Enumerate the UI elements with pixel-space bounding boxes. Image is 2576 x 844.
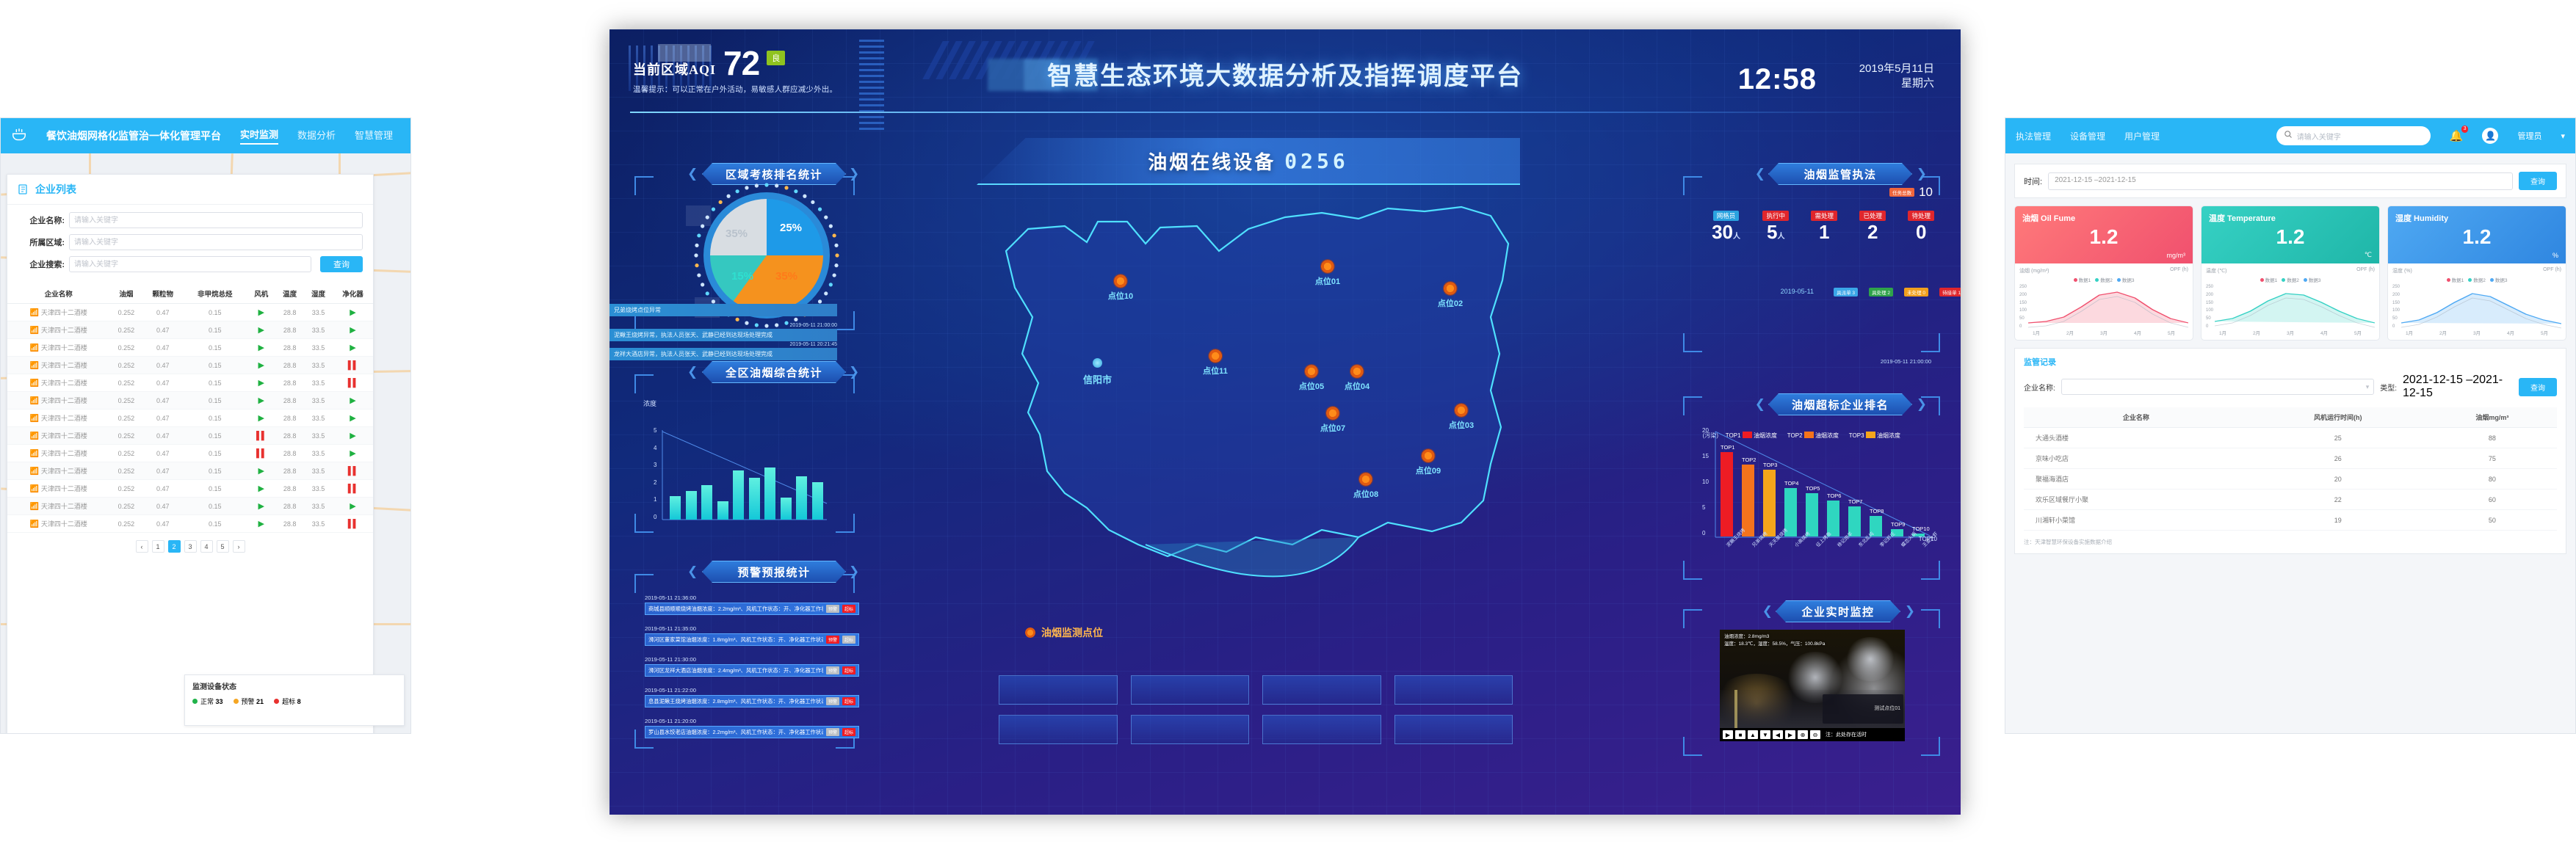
top-bar-group: TOP1 <box>1721 452 1733 537</box>
cell-company: 📶天津四十二酒楼 <box>7 498 109 515</box>
table-row[interactable]: 📶天津四十二酒楼 0.252 0.47 0.15 ▶ 28.8 33.5 ▌▌ <box>7 515 373 533</box>
column-header: 净化器 <box>333 284 373 304</box>
weekday-text: 星期六 <box>1859 76 1934 91</box>
enforce-event-text: 龙祥大酒店异常，执法人员张天、武静已经到达现场处理完成 <box>609 348 837 360</box>
cell-temp: 28.8 <box>275 515 304 533</box>
chevron-right-deco-2: ❯ <box>849 365 859 379</box>
page-button[interactable]: 2 <box>168 540 181 553</box>
left-tab-1[interactable]: 数据分析 <box>297 128 336 144</box>
cell-oil: 80 <box>2428 469 2557 490</box>
y-tick: 3 <box>654 462 656 468</box>
map-point[interactable]: 点位02 <box>1438 281 1463 309</box>
metric-sparkline <box>2401 285 2561 329</box>
cell-company: 📶天津四十二酒楼 <box>7 339 109 357</box>
records-table-header: 企业名称风机运行时间(h)油烟mg/m³ <box>2024 407 2557 428</box>
left-tab-2[interactable]: 智慧管理 <box>355 128 393 144</box>
map-point[interactable]: 点位03 <box>1449 403 1474 431</box>
enforce-stat-label: 执行中 <box>1762 211 1789 221</box>
table-row[interactable]: 📶天津四十二酒楼 0.252 0.47 0.15 ▶ 28.8 33.5 ▶ <box>7 498 373 515</box>
enforce-event[interactable]: 2019-05-11 20:21:45 龙祥大酒店异常，执法人员张天、武静已经到… <box>609 342 837 360</box>
top-bar-label: TOP9 <box>1891 521 1905 528</box>
records-row[interactable]: 欢乐区域餐厅小聚 22 60 <box>2024 490 2557 510</box>
x-tick: 2月 <box>2066 329 2074 336</box>
records-table: 企业名称风机运行时间(h)油烟mg/m³ 大通头酒楼 25 88京味小吃店 26… <box>2024 407 2557 531</box>
map-point[interactable]: 点位10 <box>1108 274 1133 302</box>
map-tile[interactable] <box>1131 675 1250 705</box>
enforce-panel-frame <box>1683 176 1940 352</box>
alert-text: 息县泥鳅王烧烤油烟浓度：2.8mg/m³、风机工作状态：开、净化器工作状态：开 <box>648 698 823 705</box>
alerts-panel-title: 预警预报统计 <box>702 561 846 583</box>
banner-label: 油烟在线设备 <box>1148 148 1276 175</box>
metric-cards: 油烟 Oil Fume 1.2 mg/m³ 油烟 (mg/m³)OPF (h) … <box>2014 205 2566 341</box>
monitoring-map[interactable]: 信阳市 点位10 点位01 点位02 点位11 点位05 点位04 点位07 点… <box>977 200 1535 611</box>
state-on-icon: ▶ <box>350 343 355 352</box>
cell-pm: 0.47 <box>142 304 183 321</box>
legend-item: 数据2 <box>2468 276 2486 283</box>
top-bar <box>1721 452 1733 537</box>
map-point-icon <box>1443 281 1458 296</box>
state-off-icon: ▌▌ <box>348 467 358 476</box>
video-stop-icon[interactable]: ■ <box>1735 730 1745 739</box>
enterprise-filter-form: 企业名称: 所属区域: 企业搜索: 查询 <box>7 205 373 284</box>
pie-slices <box>710 199 823 312</box>
state-off-icon: ▌▌ <box>256 449 267 458</box>
enforce-panel-title: 油烟监管执法 <box>1768 163 1912 185</box>
video-note: 注：此处存在活时 <box>1826 731 1867 738</box>
enforce-stat-value: 30人 <box>1712 222 1740 243</box>
map-point[interactable]: 点位05 <box>1299 364 1324 392</box>
filter-row-search: 企业搜索: 查询 <box>18 256 363 272</box>
table-row[interactable]: 📶天津四十二酒楼 0.252 0.47 0.15 ▶ 28.8 33.5 ▶ <box>7 392 373 410</box>
page-button[interactable]: › <box>233 540 245 553</box>
alert-item[interactable]: 2019-05-11 21:36:00 商城县顺顺顺烧烤油烟浓度：2.2mg/m… <box>645 594 859 615</box>
map-point-label: 点位03 <box>1449 419 1474 431</box>
alert-item[interactable]: 2019-05-11 21:35:00 浉河区董家菜馆油烟浓度：1.8mg/m³… <box>645 625 859 646</box>
cell-oil: 0.252 <box>109 339 142 357</box>
table-row[interactable]: 📶天津四十二酒楼 0.252 0.47 0.15 ▶ 28.8 33.5 ▌▌ <box>7 374 373 392</box>
alert-tag-exceed: 超标 <box>842 728 855 736</box>
cell-name: 聚福海酒店 <box>2024 469 2248 490</box>
metric-card-body: 油烟 (mg/m³)OPF (h) 数据1数据2数据3 250200150100… <box>2015 263 2193 340</box>
state-on-icon: ▶ <box>350 396 355 405</box>
map-point-icon <box>1421 448 1436 463</box>
alert-time: 2019-05-11 21:36:00 <box>645 594 859 601</box>
map-tile[interactable] <box>1131 715 1250 744</box>
aqi-label: 当前区域AQI <box>633 59 716 79</box>
left-window-topbar: 餐饮油烟网格化监管治一体化管理平台 实时监测 数据分析 智慧管理 历史数据 执法… <box>1 118 410 153</box>
right-tab-1[interactable]: 设备管理 <box>2070 130 2105 142</box>
dashboard-header: 当前区域AQI 72 良 温馨提示：可以正常在户外活动，易敏感人群应减少外出。 … <box>609 29 1961 117</box>
table-row[interactable]: 📶天津四十二酒楼 0.252 0.47 0.15 ▶ 28.8 33.5 ▌▌ <box>7 357 373 374</box>
x-tick: 2月 <box>2253 329 2260 336</box>
map-tile[interactable] <box>999 715 1118 744</box>
enforce-stat: 网格员 30人 <box>1712 208 1740 243</box>
enforce-stat-value: 0 <box>1908 222 1934 243</box>
records-row[interactable]: 大通头酒楼 25 88 <box>2024 428 2557 448</box>
enforce-stat: 待处理 0 <box>1908 208 1934 243</box>
chevron-left-deco-3: ❮ <box>687 564 698 579</box>
cell-pm: 0.47 <box>142 427 183 445</box>
cell-temp: 28.8 <box>275 498 304 515</box>
enforce-total-label: 任务总数 <box>1889 188 1914 197</box>
alert-tag-warning: 预警 <box>826 666 839 674</box>
right-search-box[interactable]: 请输入关键字 <box>2276 126 2431 145</box>
avatar[interactable]: 👤 <box>2482 128 2498 144</box>
cell-pm: 0.47 <box>142 321 183 339</box>
notify-badge: 3 <box>2461 125 2469 133</box>
right-search-placeholder: 请输入关键字 <box>2297 131 2341 142</box>
cell-fan: ▶ <box>247 304 275 321</box>
y-tick: 5 <box>654 427 656 434</box>
cell-name: 京味小吃店 <box>2024 448 2248 469</box>
date-text: 2019年5月11日 <box>1859 62 1934 76</box>
map-point-icon <box>1304 364 1319 379</box>
cell-company: 📶天津四十二酒楼 <box>7 374 109 392</box>
cell-pm: 0.47 <box>142 445 183 462</box>
alert-item[interactable]: 2019-05-11 21:20:00 罗山县水饺老店油烟浓度：2.2mg/m³… <box>645 718 859 738</box>
alert-time: 2019-05-11 21:20:00 <box>645 718 859 724</box>
map-point-icon <box>1350 364 1364 379</box>
wifi-icon: 📶 <box>29 485 38 493</box>
table-row[interactable]: 📶天津四十二酒楼 0.252 0.47 0.15 ▶ 28.8 33.5 ▶ <box>7 321 373 339</box>
state-on-icon: ▶ <box>258 326 264 335</box>
enterprise-list-title: 企业列表 <box>35 182 76 197</box>
top-x-end-label: TOP10 <box>1919 536 1937 542</box>
y-tick: 150 <box>2392 301 2400 305</box>
pagination: ‹12345› <box>7 533 373 560</box>
bar <box>764 468 775 520</box>
bar <box>686 491 697 520</box>
table-row[interactable]: 📶天津四十二酒楼 0.252 0.47 0.15 ▶ 28.8 33.5 ▌▌ <box>7 480 373 498</box>
enforce-stat-value: 2 <box>1859 222 1886 243</box>
cell-nmhc: 0.15 <box>183 304 247 321</box>
cell-purifier: ▌▌ <box>333 357 373 374</box>
x-tick: 5月 <box>2168 329 2175 336</box>
pie-label-3: 35% <box>726 228 748 240</box>
map-point[interactable]: 点位08 <box>1353 472 1378 500</box>
label-search: 企业搜索: <box>18 258 65 270</box>
cell-fan: ▌▌ <box>247 427 275 445</box>
cell-oil: 0.252 <box>109 427 142 445</box>
cell-purifier: ▶ <box>333 321 373 339</box>
cell-temp: 28.8 <box>275 445 304 462</box>
cell-temp: 28.8 <box>275 410 304 427</box>
x-tick: 1月 <box>2219 329 2226 336</box>
map-point-label: 点位04 <box>1345 380 1370 392</box>
table-row[interactable]: 📶天津四十二酒楼 0.252 0.47 0.15 ▶ 28.8 33.5 ▶ <box>7 410 373 427</box>
state-on-icon: ▶ <box>350 502 355 511</box>
cell-purifier: ▌▌ <box>333 480 373 498</box>
y-tick: 4 <box>654 445 656 451</box>
video-zoom-out-icon[interactable]: ⊖ <box>1810 730 1820 739</box>
cell-name: 大通头酒楼 <box>2024 428 2248 448</box>
map-point[interactable]: 点位11 <box>1203 349 1228 376</box>
state-on-icon: ▶ <box>258 520 264 528</box>
company-name-input[interactable] <box>69 212 363 228</box>
records-date-input[interactable]: 2021-12-15 –2021-12-15 <box>2403 374 2513 400</box>
legend-item: 数据1 <box>2074 276 2091 283</box>
video-overlay-line2: 温度：18.3℃，湿度：58.5%，气压：100.8kPa <box>1724 641 1825 648</box>
area-input[interactable] <box>69 234 363 250</box>
y-tick: 50 <box>2206 316 2213 321</box>
bell-icon[interactable]: 🔔3 <box>2450 129 2464 142</box>
records-row[interactable]: 川湘轩小菜馆 19 50 <box>2024 510 2557 531</box>
enforce-total-value: 10 <box>1919 185 1933 200</box>
alert-item[interactable]: 2019-05-11 21:30:00 浉河区龙祥大酒店油烟浓度：2.4mg/m… <box>645 656 859 677</box>
device-stat-item: 超标 8 <box>274 696 301 706</box>
records-row[interactable]: 聚福海酒店 20 80 <box>2024 469 2557 490</box>
cell-oil: 0.252 <box>109 515 142 533</box>
cell-temp: 28.8 <box>275 392 304 410</box>
cell-nmhc: 0.15 <box>183 357 247 374</box>
aqi-grade-badge: 良 <box>767 51 785 65</box>
cell-company: 📶天津四十二酒楼 <box>7 410 109 427</box>
alert-item[interactable]: 2019-05-11 21:22:00 息县泥鳅王烧烤油烟浓度：2.8mg/m³… <box>645 687 859 707</box>
enforce-total: 任务总数 10 <box>1889 185 1933 200</box>
metric-sparkline <box>2028 285 2188 329</box>
y-tick: 0 <box>654 514 656 520</box>
map-tile[interactable] <box>1262 675 1381 705</box>
table-row[interactable]: 📶天津四十二酒楼 0.252 0.47 0.15 ▶ 28.8 33.5 ▶ <box>7 304 373 321</box>
device-status-card: 监测设备状态 正常 33预警 21超标 8 <box>184 674 405 726</box>
cell-hum: 33.5 <box>304 462 333 480</box>
cell-nmhc: 0.15 <box>183 321 247 339</box>
cell-company: 📶天津四十二酒楼 <box>7 515 109 533</box>
map-tile-row <box>999 675 1513 744</box>
metric-card-value: 1.2 <box>2090 225 2119 249</box>
video-stamp: 测试点位01 <box>1874 705 1900 712</box>
y-tick: 250 <box>2019 285 2027 289</box>
enforce-stat-label: 网格员 <box>1713 211 1740 221</box>
x-tick: 3月 <box>2473 329 2481 336</box>
page-button[interactable]: 5 <box>217 540 229 553</box>
video-play-icon[interactable]: ▶ <box>1723 730 1733 739</box>
table-row[interactable]: 📶天津四十二酒楼 0.252 0.47 0.15 ▶ 28.8 33.5 ▶ <box>7 339 373 357</box>
video-left-icon[interactable]: ◀ <box>1773 730 1783 739</box>
enforce-tag-date: 2019-05-11 <box>1781 288 1814 295</box>
date-range-input[interactable]: 2021-12-15 –2021-12-15 <box>2048 172 2513 190</box>
chevron-left-deco-5: ❮ <box>1755 397 1765 412</box>
records-row[interactable]: 京味小吃店 26 75 <box>2024 448 2557 469</box>
aqi-value: 72 <box>723 48 759 79</box>
state-off-icon: ▌▌ <box>348 484 358 493</box>
left-tab-0[interactable]: 实时监测 <box>240 127 278 145</box>
state-on-icon: ▶ <box>258 414 264 423</box>
enforce-stat: 需处理 1 <box>1811 208 1837 243</box>
wifi-icon: 📶 <box>29 468 38 476</box>
wifi-icon: 📶 <box>29 450 38 458</box>
cell-purifier: ▶ <box>333 392 373 410</box>
state-off-icon: ▌▌ <box>348 520 358 528</box>
map-point-icon <box>1208 349 1223 363</box>
map-point[interactable]: 点位09 <box>1416 448 1441 476</box>
records-company-select[interactable]: ▾ <box>2061 379 2374 395</box>
right-tab-0[interactable]: 执法管理 <box>2016 130 2051 142</box>
cell-company: 📶天津四十二酒楼 <box>7 462 109 480</box>
right-background-window: 执法管理 设备管理 用户管理 请输入关键字 🔔3 👤 管理员 ▾ 时间: 202… <box>2005 117 2576 734</box>
legend-item: 数据3 <box>2490 276 2508 283</box>
enforce-tag: 具处理 2 <box>1869 288 1893 297</box>
dashboard-title: 智慧生态环境大数据分析及指挥调度平台 <box>1047 56 1523 92</box>
cell-fan: ▌▌ <box>247 445 275 462</box>
metric-x-ticks: 1月2月3月4月5月 <box>2019 329 2188 336</box>
user-label[interactable]: 管理员 <box>2517 130 2541 142</box>
cell-temp: 28.8 <box>275 427 304 445</box>
map-tile[interactable] <box>1262 715 1381 744</box>
map-point[interactable]: 点位01 <box>1315 259 1340 287</box>
metric-card-body: 湿度 (%)OPF (h) 数据1数据2数据3 250200150100500 … <box>2388 263 2566 340</box>
cell-oil: 0.252 <box>109 392 142 410</box>
metric-card-value: 1.2 <box>2463 225 2492 249</box>
video-right-icon[interactable]: ▶ <box>1785 730 1795 739</box>
bar <box>796 476 807 520</box>
alert-tag-exceed: 超标 <box>842 666 855 674</box>
date-block: 2019年5月11日 星期六 <box>1859 62 1934 92</box>
right-tab-2[interactable]: 用户管理 <box>2124 130 2160 142</box>
map-point[interactable]: 点位07 <box>1320 406 1345 434</box>
alert-tag-exceed: 超标 <box>842 697 855 705</box>
cell-company: 📶天津四十二酒楼 <box>7 480 109 498</box>
wifi-icon: 📶 <box>29 397 38 405</box>
video-zoom-in-icon[interactable]: ⊕ <box>1798 730 1808 739</box>
metric-legend: 数据1数据2数据3 <box>2206 276 2375 283</box>
state-on-icon: ▶ <box>258 467 264 476</box>
map-point-icon <box>1320 259 1335 274</box>
pie-label-1: 35% <box>775 270 797 283</box>
state-off-icon: ▌▌ <box>348 379 358 388</box>
metric-card-value: 1.2 <box>2276 225 2305 249</box>
overall-panel-title: 全区油烟综合统计 <box>702 361 846 383</box>
right-query-button[interactable]: 查询 <box>2519 172 2557 190</box>
y-tick: 10 <box>1702 479 1709 485</box>
wifi-icon: 📶 <box>29 503 38 511</box>
map-point-label: 点位07 <box>1320 422 1345 434</box>
cell-nmhc: 0.15 <box>183 374 247 392</box>
x-tick: 4月 <box>2320 329 2328 336</box>
label-company-name: 企业名称: <box>18 214 65 226</box>
cell-hum: 33.5 <box>304 392 333 410</box>
page-button[interactable]: 3 <box>184 540 197 553</box>
top-bar-group: TOP2 <box>1742 465 1754 536</box>
enforce-stat-value: 5人 <box>1762 222 1789 243</box>
cell-oil: 0.252 <box>109 445 142 462</box>
legend-item: 数据3 <box>2117 276 2135 283</box>
y-tick: 200 <box>2392 293 2400 297</box>
column-header: 湿度 <box>304 284 333 304</box>
cell-name: 川湘轩小菜馆 <box>2024 510 2248 531</box>
cell-temp: 28.8 <box>275 374 304 392</box>
video-controls[interactable]: ▶ ■ ▲ ▼ ◀ ▶ ⊕ ⊖ 注：此处存在活时 <box>1720 728 1905 741</box>
cell-nmhc: 0.15 <box>183 462 247 480</box>
y-tick: 0 <box>2206 324 2213 329</box>
cell-purifier: ▶ <box>333 410 373 427</box>
page-button[interactable]: 4 <box>200 540 213 553</box>
header-tick-rows <box>859 40 884 130</box>
dashboard-screen: 当前区域AQI 72 良 温馨提示：可以正常在户外活动，易敏感人群应减少外出。 … <box>609 29 1961 815</box>
device-stat-item: 正常 33 <box>192 696 223 706</box>
right-filter-label: 时间: <box>2024 175 2042 187</box>
map-tile[interactable] <box>999 675 1118 705</box>
enforce-tag: 未处理 0 <box>1904 288 1928 297</box>
filter-row-name: 企业名称: <box>18 212 363 228</box>
bar <box>670 496 681 520</box>
table-row[interactable]: 📶天津四十二酒楼 0.252 0.47 0.15 ▶ 28.8 33.5 ▌▌ <box>7 462 373 480</box>
cell-nmhc: 0.15 <box>183 445 247 462</box>
company-search-input[interactable] <box>69 256 311 272</box>
cell-hum: 33.5 <box>304 339 333 357</box>
cell-nmhc: 0.15 <box>183 410 247 427</box>
aqi-tip: 温馨提示：可以正常在户外活动，易敏感人群应减少外出。 <box>633 84 853 95</box>
cell-fan: ▶ <box>247 498 275 515</box>
table-row[interactable]: 📶天津四十二酒楼 0.252 0.47 0.15 ▌▌ 28.8 33.5 ▶ <box>7 445 373 462</box>
y-tick: 200 <box>2019 293 2027 297</box>
map-tile[interactable] <box>1394 715 1513 744</box>
y-tick: 100 <box>2392 308 2400 313</box>
records-query-button[interactable]: 查询 <box>2519 378 2557 396</box>
enforce-event[interactable]: 兄弟烧烤点位异常 <box>609 304 837 316</box>
chevron-down-icon[interactable]: ▾ <box>2561 131 2565 141</box>
video-up-icon[interactable]: ▲ <box>1748 730 1758 739</box>
live-video-feed[interactable]: 油烟浓度：2.8mg/m3 温度：18.3℃，湿度：58.5%，气压：100.8… <box>1720 630 1905 728</box>
cell-temp: 28.8 <box>275 357 304 374</box>
page-button[interactable]: ‹ <box>136 540 148 553</box>
map-legend: 油烟监测点位 <box>1025 625 1103 640</box>
map-point-icon <box>1113 274 1128 288</box>
cell-hum: 33.5 <box>304 498 333 515</box>
clock: 12:58 <box>1738 63 1817 96</box>
search-button[interactable]: 查询 <box>320 256 363 272</box>
wifi-icon: 📶 <box>29 309 38 317</box>
cell-hours: 19 <box>2248 510 2428 531</box>
table-row[interactable]: 📶天津四十二酒楼 0.252 0.47 0.15 ▌▌ 28.8 33.5 ▶ <box>7 427 373 445</box>
cell-oil: 88 <box>2428 428 2557 448</box>
metric-legend: 数据1数据2数据3 <box>2392 276 2561 283</box>
map-point-label: 点位02 <box>1438 297 1463 309</box>
alert-tag-warning: 预警 <box>826 697 839 705</box>
bar <box>733 470 744 520</box>
page-button[interactable]: 1 <box>152 540 164 553</box>
cell-oil: 0.252 <box>109 462 142 480</box>
alert-tag-warning: 预警 <box>826 636 839 644</box>
cell-temp: 28.8 <box>275 321 304 339</box>
alert-tag-warning: 预警 <box>826 728 839 736</box>
x-tick: 3月 <box>2100 329 2108 336</box>
bar <box>781 498 792 520</box>
y-tick: 20 <box>1702 427 1709 434</box>
cell-temp: 28.8 <box>275 304 304 321</box>
top-bar-label: TOP2 <box>1742 456 1756 463</box>
cell-company: 📶天津四十二酒楼 <box>7 357 109 374</box>
overall-y-unit: 浓度 <box>643 399 656 408</box>
cell-hours: 20 <box>2248 469 2428 490</box>
x-tick: 5月 <box>2541 329 2548 336</box>
map-tile[interactable] <box>1394 675 1513 705</box>
filter-row-area: 所属区域: <box>18 234 363 250</box>
metric-x-ticks: 1月2月3月4月5月 <box>2392 329 2561 336</box>
records-filter-row: 企业名称: ▾ 类型: 2021-12-15 –2021-12-15 查询 <box>2024 374 2557 400</box>
metric-card-unit: mg/m³ <box>2167 252 2186 259</box>
enforce-event[interactable]: 2019-05-11 21:00:00 泥鳅王烧烤异常，执法人员张天、武静已经到… <box>609 323 837 341</box>
video-down-icon[interactable]: ▼ <box>1760 730 1770 739</box>
map-point[interactable]: 点位04 <box>1345 364 1370 392</box>
cell-fan: ▶ <box>247 392 275 410</box>
aqi-mosaic <box>658 44 711 62</box>
right-window-topbar: 执法管理 设备管理 用户管理 请输入关键字 🔔3 👤 管理员 ▾ <box>2005 118 2575 153</box>
metric-axis-labels: 湿度 (%)OPF (h) <box>2392 267 2561 274</box>
legend-item: 数据1 <box>2260 276 2278 283</box>
metric-card-title: 湿度 Humidity <box>2395 212 2558 224</box>
cell-fan: ▶ <box>247 462 275 480</box>
